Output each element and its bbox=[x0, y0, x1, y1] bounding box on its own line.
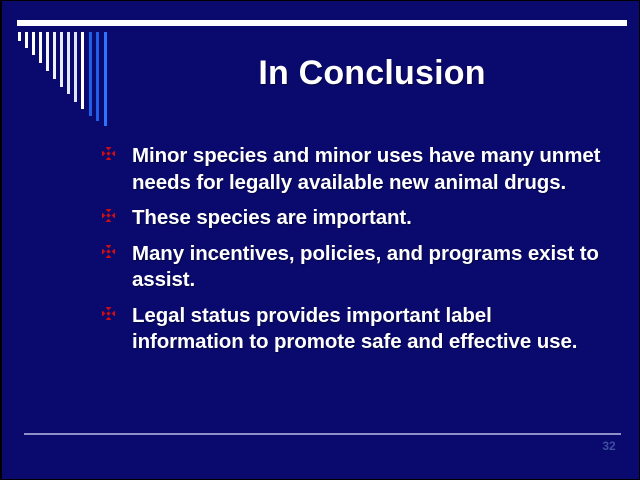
bullet-text: Many incentives, policies, and programs … bbox=[132, 241, 602, 294]
bullet-item: Minor species and minor uses have many u… bbox=[102, 143, 602, 196]
bullet-text: Legal status provides important label in… bbox=[132, 303, 602, 356]
top-white-rule bbox=[17, 20, 627, 26]
page-number: 32 bbox=[592, 439, 626, 453]
motif-bar bbox=[32, 32, 35, 55]
page-title: In Conclusion bbox=[122, 53, 622, 93]
footer-divider bbox=[24, 433, 621, 435]
bullet-list: Minor species and minor uses have many u… bbox=[102, 143, 602, 365]
motif-bar bbox=[96, 32, 99, 121]
motif-bar bbox=[18, 32, 21, 41]
red-diamond-cluster-bullet-icon bbox=[102, 303, 132, 320]
red-diamond-cluster-bullet-icon bbox=[102, 205, 132, 222]
red-diamond-cluster-bullet-icon bbox=[102, 241, 132, 258]
motif-bar bbox=[74, 32, 77, 102]
slide-canvas: In Conclusion Minor species and minor us… bbox=[0, 0, 640, 480]
motif-bar bbox=[25, 32, 28, 48]
red-diamond-cluster-bullet-icon bbox=[102, 143, 132, 160]
ascending-bar-motif-icon bbox=[18, 32, 110, 128]
bullet-text: These species are important. bbox=[132, 205, 602, 232]
motif-bar bbox=[53, 32, 56, 79]
bullet-item: These species are important. bbox=[102, 205, 602, 232]
bullet-item: Legal status provides important label in… bbox=[102, 303, 602, 356]
bullet-text: Minor species and minor uses have many u… bbox=[132, 143, 602, 196]
motif-bar bbox=[46, 32, 49, 71]
bullet-item: Many incentives, policies, and programs … bbox=[102, 241, 602, 294]
motif-bar bbox=[104, 32, 107, 126]
motif-bar bbox=[81, 32, 84, 109]
motif-bar bbox=[39, 32, 42, 63]
motif-bar bbox=[60, 32, 63, 87]
motif-bar bbox=[89, 32, 92, 116]
motif-bar bbox=[67, 32, 70, 94]
